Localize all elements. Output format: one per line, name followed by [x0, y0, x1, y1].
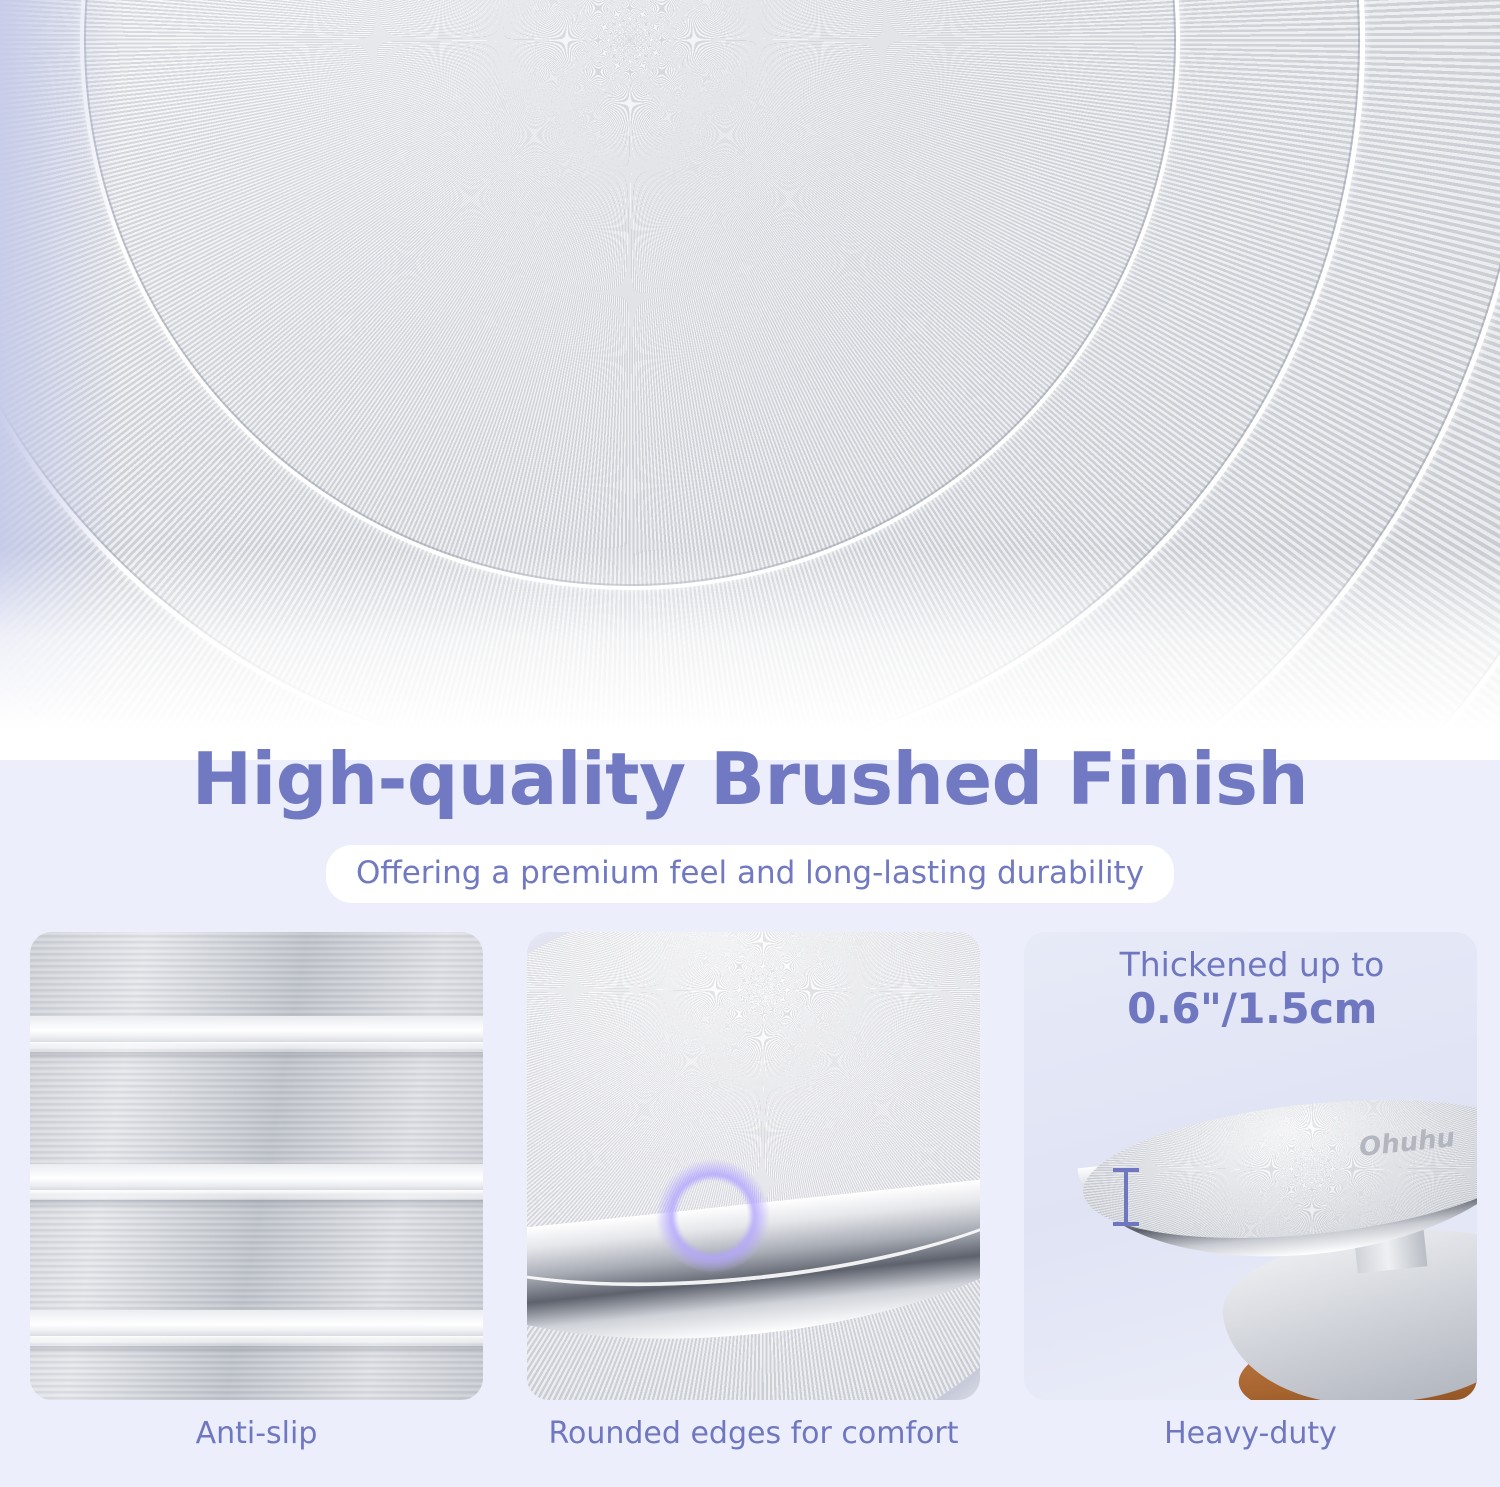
rib-band-2: [30, 1190, 483, 1200]
rib-gap-1: [30, 1016, 483, 1042]
rib-band-3: [30, 1336, 483, 1346]
feature-card-heavy-duty: Thickened up to 0.6"/1.5cm Ohuhu Heavy-d…: [1024, 932, 1477, 1487]
thickness-callout: Thickened up to 0.6"/1.5cm: [1042, 946, 1462, 1033]
hero-bottom-fade: [0, 550, 1500, 760]
edge-glow-highlight-icon: [657, 1160, 769, 1272]
subtitle-container: Offering a premium feel and long-lasting…: [0, 845, 1500, 903]
thickness-measure-arrow-icon: [1124, 1168, 1128, 1226]
hero-product-image: Ohuhu: [0, 0, 1500, 760]
feature-card-rounded-edges: Rounded edges for comfort: [527, 932, 980, 1487]
thickness-callout-line1: Thickened up to: [1042, 946, 1462, 985]
anti-slip-image: [30, 932, 483, 1400]
product-feature-graphic: Ohuhu High-quality Brushed Finish Offeri…: [0, 0, 1500, 1487]
page-title: High-quality Brushed Finish: [0, 742, 1500, 818]
heavy-duty-image: Thickened up to 0.6"/1.5cm Ohuhu: [1024, 932, 1477, 1400]
feature-card-anti-slip: Anti-slip: [30, 932, 483, 1487]
feature-caption: Anti-slip: [30, 1416, 483, 1451]
page-subtitle: Offering a premium feel and long-lasting…: [326, 845, 1174, 903]
feature-caption: Heavy-duty: [1024, 1416, 1477, 1451]
feature-card-row: Anti-slip Rounded edges for comfort Thic…: [0, 932, 1500, 1487]
feature-caption: Rounded edges for comfort: [527, 1416, 980, 1451]
rib-gap-2: [30, 1164, 483, 1190]
rib-band-1: [30, 1042, 483, 1052]
rounded-edges-image: [527, 932, 980, 1400]
rib-gap-3: [30, 1310, 483, 1336]
thickness-callout-line2: 0.6"/1.5cm: [1042, 985, 1462, 1033]
